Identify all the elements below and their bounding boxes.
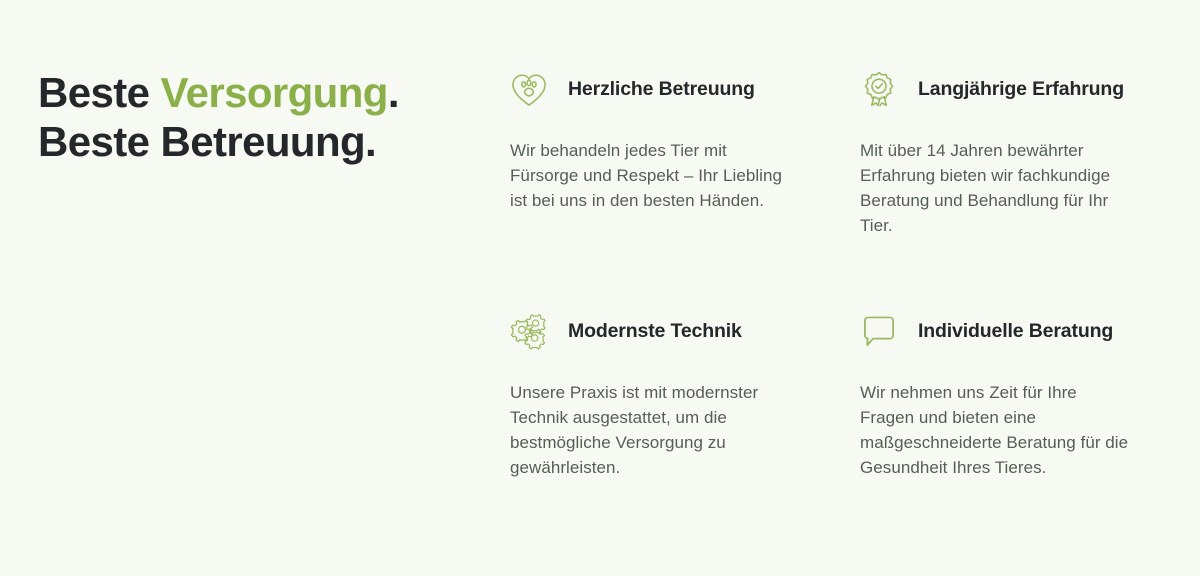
- speech-bubble-icon: [856, 308, 902, 354]
- feature-header: Individuelle Beratung: [856, 304, 1166, 358]
- page-title: Beste Versorgung.: [38, 68, 468, 117]
- feature-description: Wir nehmen uns Zeit für Ihre Fragen und …: [860, 380, 1132, 480]
- headline-line-2: Beste Betreuung.: [38, 118, 376, 165]
- feature-card-individuelle-beratung: Individuelle Beratung Wir nehmen uns Zei…: [856, 304, 1166, 480]
- feature-description: Mit über 14 Jahren bewährter Erfahrung b…: [860, 138, 1132, 238]
- feature-header: Langjährige Erfahrung: [856, 62, 1166, 116]
- feature-description: Wir behandeln jedes Tier mit Fürsorge un…: [510, 138, 788, 213]
- heart-paw-icon: [506, 66, 552, 112]
- feature-header: Modernste Technik: [506, 304, 856, 358]
- headline-period: .: [388, 69, 399, 116]
- feature-description: Unsere Praxis ist mit modernster Technik…: [510, 380, 788, 480]
- headline-accent-word: Versorgung: [160, 69, 387, 116]
- feature-card-herzliche-betreuung: Herzliche Betreuung Wir behandeln jedes …: [506, 62, 856, 238]
- feature-card-langjaehrige-erfahrung: Langjährige Erfahrung Mit über 14 Jahren…: [856, 62, 1166, 238]
- feature-title: Individuelle Beratung: [918, 320, 1113, 343]
- feature-title: Langjährige Erfahrung: [918, 78, 1124, 101]
- feature-header: Herzliche Betreuung: [506, 62, 856, 116]
- headline-line-1: Beste Versorgung.: [38, 69, 399, 116]
- headline-text-plain: Beste: [38, 69, 160, 116]
- feature-title: Modernste Technik: [568, 320, 742, 343]
- page-subtitle: Beste Betreuung.: [38, 117, 468, 166]
- feature-grid: Herzliche Betreuung Wir behandeln jedes …: [506, 62, 1166, 480]
- feature-card-modernste-technik: Modernste Technik Unsere Praxis ist mit …: [506, 304, 856, 480]
- gears-icon: [506, 308, 552, 354]
- heading-block: Beste Versorgung. Beste Betreuung.: [38, 68, 468, 166]
- award-badge-icon: [856, 66, 902, 112]
- features-section: Beste Versorgung. Beste Betreuung. Her: [0, 0, 1200, 576]
- feature-title: Herzliche Betreuung: [568, 78, 755, 101]
